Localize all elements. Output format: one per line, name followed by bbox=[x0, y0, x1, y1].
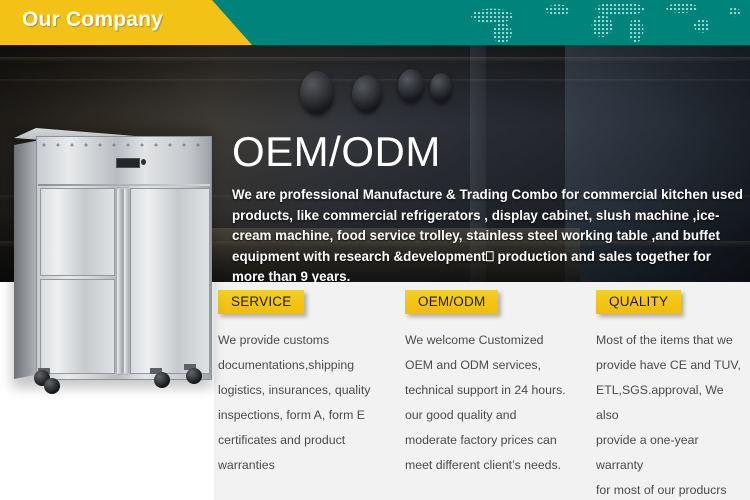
feature-column-service: SERVICE We provide customs documentation… bbox=[218, 290, 395, 490]
feature-column-quality: QUALITY Most of the items that we provid… bbox=[572, 290, 749, 490]
fridge-handle bbox=[117, 188, 122, 374]
fridge-door-bottom-left bbox=[40, 279, 115, 374]
feature-column-oem-odm: OEM/ODM We welcome Customized OEM and OD… bbox=[395, 290, 572, 490]
fridge-control-panel bbox=[116, 158, 140, 168]
fridge-vent-row bbox=[42, 142, 206, 150]
company-profile-banner: Our Company OEM/ODM We are professional … bbox=[0, 0, 750, 500]
badge-service[interactable]: SERVICE bbox=[218, 290, 304, 314]
fridge-handle bbox=[124, 188, 129, 374]
commercial-refrigerator-image bbox=[8, 122, 216, 396]
feature-text-oem-odm: We welcome Customized OEM and ODM servic… bbox=[405, 328, 566, 478]
world-map-dots-icon bbox=[450, 0, 750, 45]
fridge-caster bbox=[186, 368, 202, 384]
fridge-door-top-left bbox=[40, 188, 115, 276]
feature-text-service: We provide customs documentations,shippi… bbox=[218, 328, 389, 478]
badge-oem-odm[interactable]: OEM/ODM bbox=[405, 290, 498, 314]
feature-columns: SERVICE We provide customs documentation… bbox=[218, 290, 750, 490]
top-banner: Our Company bbox=[0, 0, 750, 45]
page-title: Our Company bbox=[22, 8, 163, 32]
fridge-seam bbox=[38, 184, 210, 186]
fridge-indicator-light bbox=[141, 159, 146, 165]
feature-text-quality: Most of the items that we provide have C… bbox=[596, 328, 743, 500]
hero-description-text: We are professional Manufacture & Tradin… bbox=[232, 185, 744, 282]
hero-title: OEM/ODM bbox=[232, 131, 441, 173]
hero-description: We are professional Manufacture & Tradin… bbox=[232, 185, 744, 282]
badge-quality[interactable]: QUALITY bbox=[596, 290, 681, 314]
fridge-caster bbox=[44, 378, 60, 394]
fridge-caster bbox=[154, 372, 170, 388]
fridge-door-right bbox=[130, 188, 210, 374]
